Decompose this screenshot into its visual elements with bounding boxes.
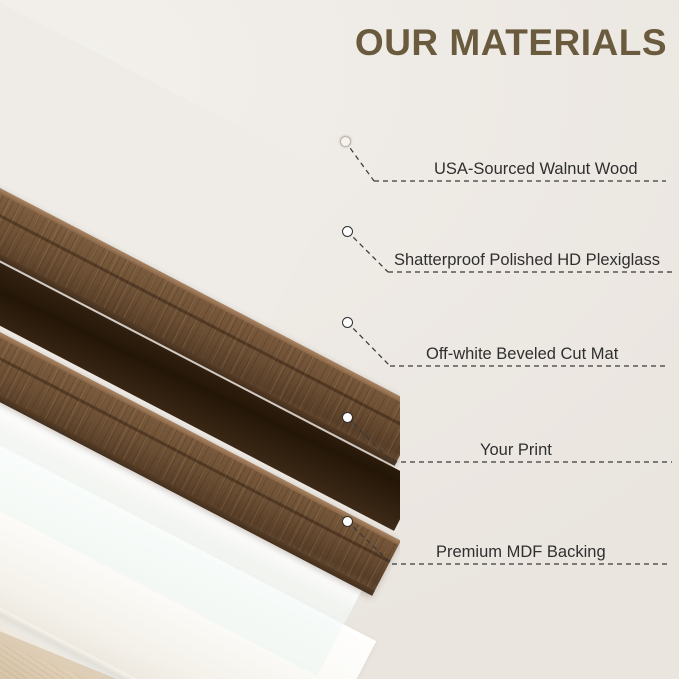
callout-label-plexiglass: Shatterproof Polished HD Plexiglass bbox=[394, 251, 660, 270]
callout-label-walnut-wood: USA-Sourced Walnut Wood bbox=[434, 160, 638, 179]
callout-label-mat-board: Off-white Beveled Cut Mat bbox=[426, 345, 618, 364]
callout-group: USA-Sourced Walnut WoodShatterproof Poli… bbox=[0, 0, 679, 679]
callout-marker-mat-board[interactable] bbox=[342, 317, 353, 328]
infographic-canvas: OUR MATERIALS USA-Sourced Walnut WoodSha… bbox=[0, 0, 679, 679]
callout-label-your-print: Your Print bbox=[480, 441, 552, 460]
callout-label-mdf-backing: Premium MDF Backing bbox=[436, 543, 606, 562]
callout-marker-plexiglass[interactable] bbox=[342, 226, 353, 237]
callout-marker-walnut-wood[interactable] bbox=[340, 136, 351, 147]
callout-marker-your-print[interactable] bbox=[342, 412, 353, 423]
callout-marker-mdf-backing[interactable] bbox=[342, 516, 353, 527]
